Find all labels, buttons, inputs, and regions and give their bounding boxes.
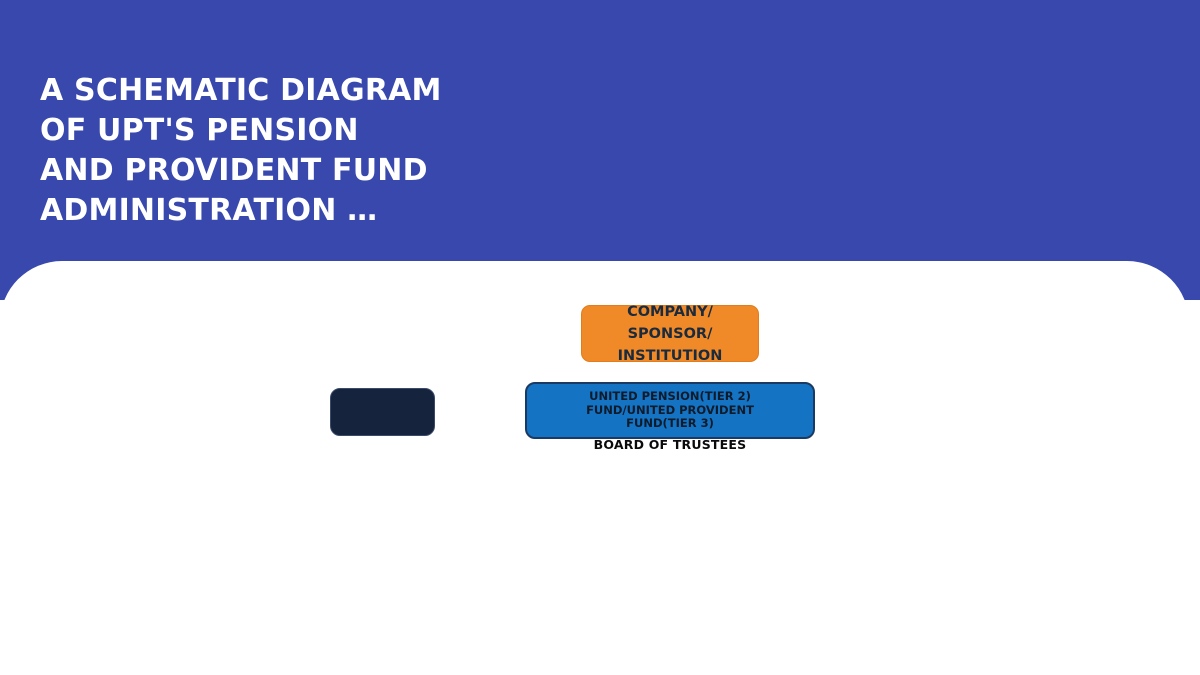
diagram-node-fund-caption: Board of Trustees	[525, 437, 815, 452]
schematic-diagram: Company/ Sponsor/ Institution United Pen…	[0, 261, 1189, 675]
diagram-node-dark-placeholder[interactable]	[330, 388, 435, 436]
diagram-node-fund[interactable]: United Pension(Tier 2) Fund/United Provi…	[525, 382, 815, 439]
diagram-node-company[interactable]: Company/ Sponsor/ Institution	[581, 305, 759, 362]
slide-canvas: A Schematic Diagram of UPT's Pension and…	[0, 0, 1200, 675]
page-title: A Schematic Diagram of UPT's Pension and…	[40, 71, 660, 231]
content-panel: Company/ Sponsor/ Institution United Pen…	[0, 261, 1189, 675]
